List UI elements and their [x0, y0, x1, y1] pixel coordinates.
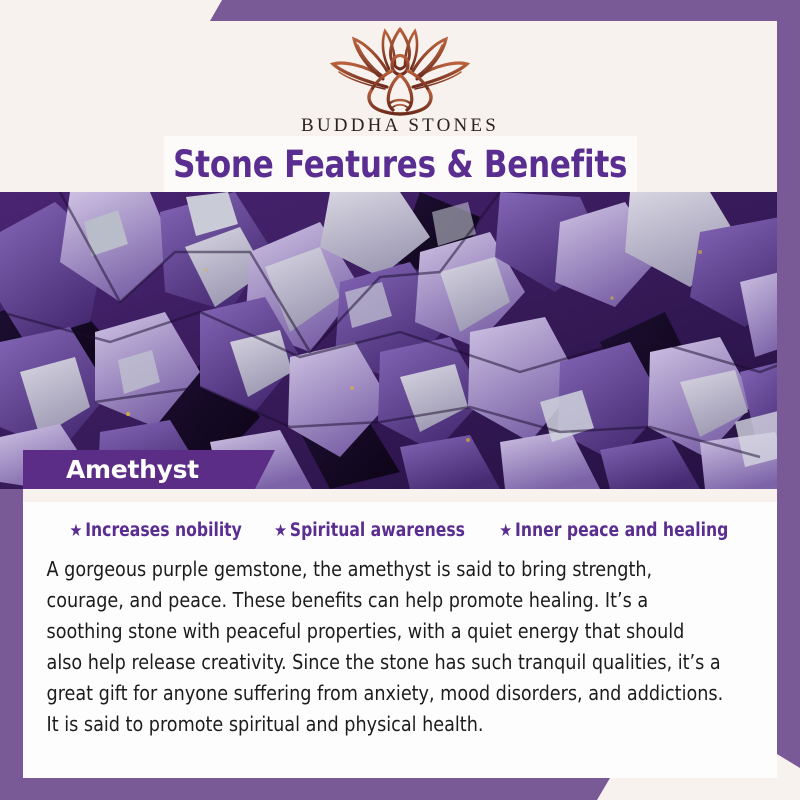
feature-item-2: ★ Spiritual awareness [274, 520, 465, 541]
feature-label-1: Increases nobility [85, 520, 242, 541]
feature-item-3: ★ Inner peace and healing [500, 520, 729, 541]
stone-description: A gorgeous purple gemstone, the amethyst… [37, 554, 730, 740]
amethyst-photo [0, 192, 800, 489]
stone-name-banner: Amethyst [23, 450, 275, 489]
star-icon: ★ [274, 523, 287, 540]
poster-root: BUDDHA STONES Stone Features & Benefits [0, 0, 800, 800]
brand-name: BUDDHA STONES [301, 115, 499, 137]
lotus-meditation-icon [325, 25, 475, 117]
frame-band-bottom [0, 778, 610, 800]
star-icon: ★ [500, 523, 513, 540]
frame-band-top [210, 0, 800, 21]
description-panel: ★ Increases nobility ★ Spiritual awarene… [23, 489, 777, 778]
title-banner: Stone Features & Benefits [164, 136, 637, 192]
star-icon: ★ [69, 523, 82, 540]
page-title: Stone Features & Benefits [173, 143, 627, 186]
feature-label-2: Spiritual awareness [290, 520, 465, 541]
frame-band-right [777, 0, 800, 768]
stone-name: Amethyst [23, 455, 199, 484]
feature-item-1: ★ Increases nobility [69, 520, 241, 541]
brand-header: BUDDHA STONES [0, 21, 800, 140]
description-panel-inner: ★ Increases nobility ★ Spiritual awarene… [23, 502, 777, 778]
feature-list: ★ Increases nobility ★ Spiritual awarene… [37, 502, 763, 541]
frame-band-left [0, 489, 23, 800]
feature-label-3: Inner peace and healing [515, 520, 728, 541]
